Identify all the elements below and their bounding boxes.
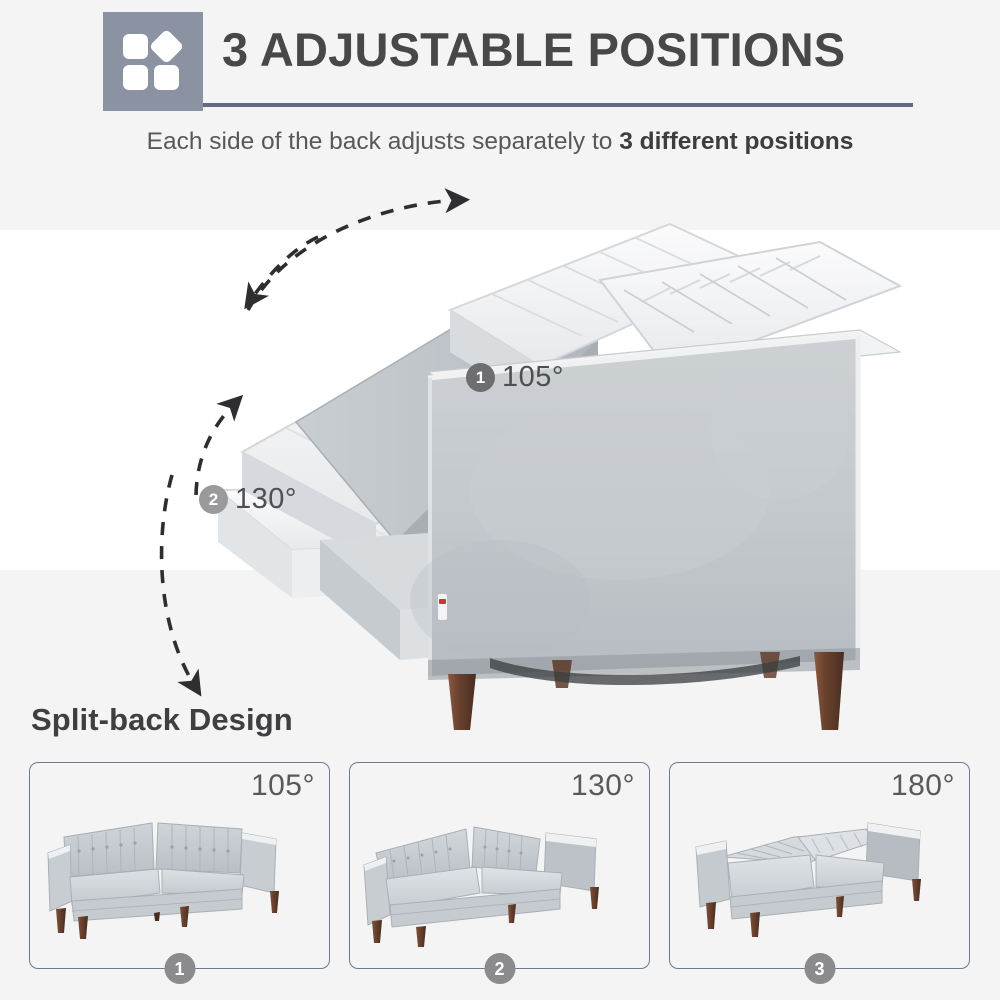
four-tile-grid-icon-shapes	[123, 33, 183, 91]
tile-bottom-right-icon	[154, 65, 179, 90]
callout-badge-2: 2	[199, 485, 228, 514]
callout-angle-1: 105°	[502, 361, 564, 394]
four-tile-grid-icon	[103, 12, 203, 111]
tile-bottom-left-icon	[123, 65, 148, 90]
sofa-side-view-reclining-backrest	[200, 190, 960, 730]
sofa-upright-position	[30, 781, 331, 951]
callout-badge-1: 1	[466, 363, 495, 392]
split-back-panel-3: 180°	[669, 762, 970, 969]
header-subtitle: Each side of the back adjusts separately…	[0, 128, 1000, 156]
hero-illustration: 1 105° 2 130° 3 180°	[0, 175, 1000, 735]
callout-130: 2 130°	[199, 483, 297, 516]
tile-top-right-diamond-icon	[149, 28, 184, 63]
sofa-flat-bed-position	[670, 781, 971, 951]
callout-angle-2: 130°	[235, 483, 297, 516]
panel-badge-1: 1	[164, 953, 195, 984]
sofa-reclined-position	[350, 781, 651, 951]
header-subtitle-prefix: Each side of the back adjusts separately…	[147, 128, 620, 155]
panel-badge-2: 2	[484, 953, 515, 984]
split-back-panel-1: 105°	[29, 762, 330, 969]
split-back-panel-2: 130°	[349, 762, 650, 969]
panel-badge-3: 3	[804, 953, 835, 984]
split-back-panels: 105°	[29, 762, 971, 969]
header: 3 ADJUSTABLE POSITIONS Each side of the …	[0, 0, 1000, 175]
page-title: 3 ADJUSTABLE POSITIONS	[222, 26, 845, 73]
callout-105: 1 105°	[466, 361, 564, 394]
split-back-heading: Split-back Design	[31, 702, 293, 738]
header-divider	[203, 103, 913, 107]
tile-top-left-icon	[123, 34, 148, 59]
header-subtitle-emphasis: 3 different positions	[619, 128, 853, 155]
